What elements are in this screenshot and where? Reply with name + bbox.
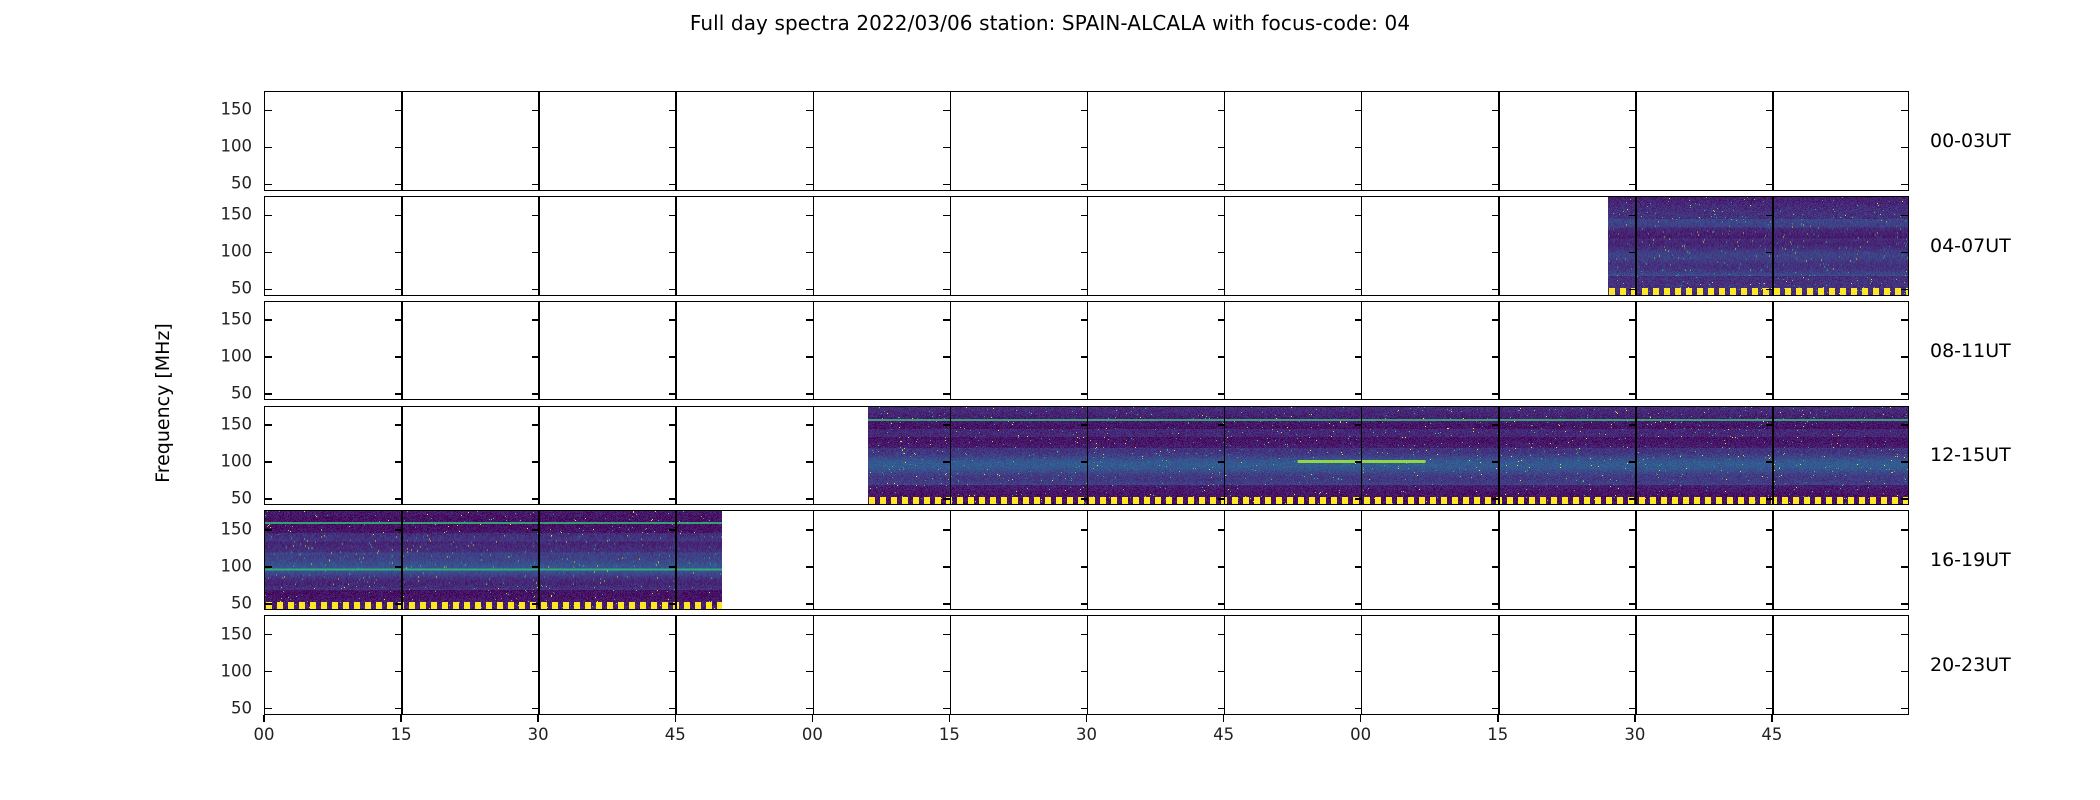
- y-tick-mark: [1355, 319, 1362, 321]
- y-tick-mark: [943, 110, 950, 112]
- x-tick-mark: [949, 715, 951, 722]
- y-tick-mark: [943, 252, 950, 254]
- y-tick-mark: [1766, 498, 1773, 500]
- panel-divider: [675, 302, 677, 400]
- y-tick-mark: [1492, 289, 1499, 291]
- y-tick-mark: [265, 319, 272, 321]
- y-tick-mark: [669, 461, 676, 463]
- y-tick-mark: [1218, 498, 1225, 500]
- y-tick-mark: [532, 393, 539, 395]
- y-tick-label: 150: [221, 310, 253, 329]
- panel-divider: [1087, 511, 1089, 609]
- row-label-16-19ut: 16-19UT: [1930, 549, 2011, 571]
- y-tick-mark: [1355, 634, 1362, 636]
- y-tick-mark: [1766, 566, 1773, 568]
- y-tick-mark: [1218, 393, 1225, 395]
- panel-divider: [401, 616, 403, 714]
- y-tick-mark: [669, 184, 676, 186]
- y-tick-mark: [1355, 356, 1362, 358]
- y-tick-mark: [395, 356, 402, 358]
- y-tick-mark: [669, 566, 676, 568]
- panel-divider: [1772, 92, 1774, 190]
- y-tick-mark: [1081, 252, 1088, 254]
- y-tick-mark: [1355, 110, 1362, 112]
- y-tick-mark: [532, 529, 539, 531]
- y-tick-mark: [1081, 529, 1088, 531]
- y-tick-mark: [669, 356, 676, 358]
- y-tick-mark: [532, 634, 539, 636]
- y-tick-mark: [1629, 252, 1636, 254]
- spectrogram-data-block: [265, 511, 722, 609]
- y-tick-mark: [1081, 461, 1088, 463]
- y-tick-mark: [1629, 603, 1636, 605]
- y-tick-mark: [1766, 319, 1773, 321]
- x-tick-mark: [1771, 715, 1773, 722]
- y-tick-mark: [806, 634, 813, 636]
- panel-divider: [813, 92, 815, 190]
- y-tick-mark: [1218, 634, 1225, 636]
- y-tick-mark: [1081, 498, 1088, 500]
- y-tick-mark: [806, 498, 813, 500]
- y-tick-mark: [1766, 252, 1773, 254]
- y-tick-mark: [1218, 424, 1225, 426]
- y-tick-mark: [1355, 603, 1362, 605]
- y-tick-mark: [943, 184, 950, 186]
- x-tick-mark: [675, 715, 677, 722]
- y-tick-mark: [806, 393, 813, 395]
- y-tick-label: 50: [231, 698, 252, 717]
- y-tick-mark: [1492, 603, 1499, 605]
- y-tick-mark: [943, 393, 950, 395]
- y-tick-mark: [532, 671, 539, 673]
- y-tick-mark: [669, 671, 676, 673]
- panel-divider: [813, 616, 815, 714]
- panel-divider: [1224, 511, 1226, 609]
- y-tick-mark: [532, 708, 539, 710]
- row-label-20-23ut: 20-23UT: [1930, 654, 2011, 676]
- y-tick-mark: [1629, 461, 1636, 463]
- row-label-08-11ut: 08-11UT: [1930, 340, 2011, 362]
- row-label-04-07ut: 04-07UT: [1930, 235, 2011, 257]
- panel-divider: [401, 197, 403, 295]
- y-tick-mark: [669, 424, 676, 426]
- panel-divider: [1087, 92, 1089, 190]
- y-tick-label: 100: [221, 451, 253, 470]
- y-tick-mark: [1492, 147, 1499, 149]
- y-tick-mark: [265, 289, 272, 291]
- y-tick-mark: [1218, 603, 1225, 605]
- y-tick-mark: [395, 184, 402, 186]
- spectrogram-row-00-03ut: [264, 91, 1909, 191]
- y-tick-mark: [1492, 529, 1499, 531]
- y-tick-mark: [1766, 461, 1773, 463]
- y-tick-mark: [1081, 184, 1088, 186]
- y-tick-mark: [1629, 184, 1636, 186]
- y-tick-mark: [1218, 461, 1225, 463]
- y-tick-mark: [1901, 461, 1908, 463]
- y-tick-mark: [806, 424, 813, 426]
- y-tick-mark: [1492, 252, 1499, 254]
- y-tick-label: 100: [221, 242, 253, 261]
- panel-divider: [1087, 616, 1089, 714]
- y-tick-mark: [1218, 110, 1225, 112]
- y-tick-mark: [532, 603, 539, 605]
- y-tick-mark: [532, 215, 539, 217]
- y-tick-mark: [943, 634, 950, 636]
- y-tick-mark: [943, 289, 950, 291]
- y-tick-mark: [1901, 566, 1908, 568]
- panel-divider: [1087, 407, 1089, 505]
- y-tick-mark: [265, 498, 272, 500]
- panel-divider: [1772, 511, 1774, 609]
- y-tick-mark: [1629, 319, 1636, 321]
- panel-divider: [950, 197, 952, 295]
- y-tick-mark: [395, 393, 402, 395]
- y-tick-mark: [265, 671, 272, 673]
- y-tick-mark: [1081, 319, 1088, 321]
- panel-divider: [1498, 407, 1500, 505]
- y-tick-mark: [669, 110, 676, 112]
- y-tick-label: 150: [221, 100, 253, 119]
- y-tick-mark: [532, 110, 539, 112]
- y-tick-mark: [943, 498, 950, 500]
- y-tick-mark: [806, 147, 813, 149]
- x-axis: 001530450015304500153045: [264, 715, 1909, 775]
- y-tick-mark: [806, 252, 813, 254]
- spectrogram-data-block: [1608, 197, 1909, 295]
- y-tick-mark: [1081, 289, 1088, 291]
- y-tick-mark: [669, 498, 676, 500]
- y-tick-mark: [1492, 184, 1499, 186]
- panel-divider: [1635, 302, 1637, 400]
- y-tick-mark: [1901, 289, 1908, 291]
- y-tick-label: 150: [221, 519, 253, 538]
- panel-divider: [1635, 511, 1637, 609]
- y-tick-mark: [1766, 356, 1773, 358]
- y-tick-mark: [1766, 147, 1773, 149]
- y-tick-mark: [806, 603, 813, 605]
- y-tick-mark: [669, 147, 676, 149]
- y-tick-mark: [1355, 184, 1362, 186]
- y-tick-mark: [395, 147, 402, 149]
- y-tick-mark: [1901, 634, 1908, 636]
- x-tick-label: 15: [391, 725, 412, 744]
- y-tick-mark: [1492, 393, 1499, 395]
- spectrogram-data-block: [868, 407, 1909, 505]
- y-tick-mark: [1901, 393, 1908, 395]
- y-tick-label: 50: [231, 174, 252, 193]
- y-tick-mark: [1218, 708, 1225, 710]
- y-tick-mark: [669, 215, 676, 217]
- panel-divider: [1361, 407, 1363, 505]
- panel-divider: [950, 616, 952, 714]
- y-tick-mark: [265, 252, 272, 254]
- y-tick-mark: [395, 461, 402, 463]
- panel-divider: [1224, 616, 1226, 714]
- y-tick-label: 150: [221, 624, 253, 643]
- y-tick-label: 100: [221, 347, 253, 366]
- y-tick-mark: [1629, 147, 1636, 149]
- y-tick-mark: [1081, 566, 1088, 568]
- y-tick-mark: [1081, 424, 1088, 426]
- y-tick-mark: [1218, 529, 1225, 531]
- y-tick-mark: [1629, 566, 1636, 568]
- y-tick-mark: [1081, 603, 1088, 605]
- y-tick-mark: [1355, 566, 1362, 568]
- y-tick-mark: [669, 252, 676, 254]
- y-tick-mark: [1355, 215, 1362, 217]
- y-tick-mark: [265, 603, 272, 605]
- y-tick-mark: [395, 319, 402, 321]
- y-tick-mark: [265, 215, 272, 217]
- y-tick-mark: [943, 461, 950, 463]
- panel-divider: [538, 197, 540, 295]
- panel-divider: [950, 92, 952, 190]
- y-tick-mark: [1901, 356, 1908, 358]
- y-tick-mark: [669, 634, 676, 636]
- x-tick-mark: [1360, 715, 1362, 722]
- y-tick-mark: [1218, 215, 1225, 217]
- y-tick-mark: [1081, 393, 1088, 395]
- y-tick-mark: [1355, 424, 1362, 426]
- y-tick-mark: [532, 356, 539, 358]
- y-tick-mark: [1355, 708, 1362, 710]
- y-tick-mark: [1355, 147, 1362, 149]
- y-tick-mark: [943, 708, 950, 710]
- y-tick-mark: [669, 603, 676, 605]
- panel-divider: [1361, 92, 1363, 190]
- panel-divider: [1224, 407, 1226, 505]
- panel-divider: [1498, 92, 1500, 190]
- spectrogram-row-08-11ut: [264, 301, 1909, 401]
- y-tick-mark: [669, 708, 676, 710]
- x-tick-mark: [537, 715, 539, 722]
- y-tick-mark: [1629, 529, 1636, 531]
- panel-divider: [1361, 302, 1363, 400]
- y-tick-mark: [669, 289, 676, 291]
- y-tick-mark: [1901, 147, 1908, 149]
- y-tick-mark: [1629, 356, 1636, 358]
- y-tick-mark: [1355, 529, 1362, 531]
- y-tick-mark: [806, 461, 813, 463]
- panel-divider: [1772, 302, 1774, 400]
- x-tick-label: 30: [528, 725, 549, 744]
- y-tick-label: 100: [221, 556, 253, 575]
- y-tick-mark: [265, 566, 272, 568]
- panel-divider: [401, 511, 403, 609]
- y-tick-mark: [1492, 319, 1499, 321]
- y-tick-mark: [1901, 498, 1908, 500]
- y-tick-mark: [395, 110, 402, 112]
- y-tick-mark: [265, 461, 272, 463]
- x-tick-label: 45: [1761, 725, 1782, 744]
- panel-divider: [675, 197, 677, 295]
- y-tick-mark: [1901, 708, 1908, 710]
- y-tick-mark: [1492, 110, 1499, 112]
- panel-divider: [675, 407, 677, 505]
- panel-divider: [538, 302, 540, 400]
- y-tick-mark: [1766, 671, 1773, 673]
- y-tick-mark: [943, 319, 950, 321]
- y-tick-mark: [1901, 252, 1908, 254]
- y-tick-label: 150: [221, 414, 253, 433]
- spectrogram-image: [265, 511, 722, 609]
- panel-divider: [675, 511, 677, 609]
- y-tick-mark: [395, 289, 402, 291]
- panel-divider: [401, 92, 403, 190]
- panel-divider: [1772, 197, 1774, 295]
- y-tick-mark: [395, 634, 402, 636]
- y-tick-mark: [1355, 393, 1362, 395]
- y-tick-mark: [265, 393, 272, 395]
- figure-canvas: Full day spectra 2022/03/06 station: SPA…: [0, 0, 2100, 800]
- x-tick-mark: [1634, 715, 1636, 722]
- y-tick-mark: [1901, 603, 1908, 605]
- x-tick-label: 00: [802, 725, 823, 744]
- spectrogram-image: [868, 407, 1909, 505]
- y-tick-mark: [1901, 529, 1908, 531]
- y-tick-mark: [1629, 289, 1636, 291]
- y-tick-mark: [1355, 252, 1362, 254]
- y-tick-mark: [265, 184, 272, 186]
- y-tick-mark: [1629, 498, 1636, 500]
- panel-divider: [813, 511, 815, 609]
- panel-divider: [401, 302, 403, 400]
- y-tick-mark: [1081, 356, 1088, 358]
- y-tick-mark: [1766, 529, 1773, 531]
- y-tick-mark: [265, 147, 272, 149]
- panel-divider: [1224, 197, 1226, 295]
- y-tick-mark: [395, 671, 402, 673]
- y-tick-mark: [1081, 147, 1088, 149]
- y-tick-mark: [1355, 498, 1362, 500]
- y-tick-mark: [1492, 424, 1499, 426]
- y-tick-mark: [1629, 671, 1636, 673]
- y-tick-mark: [395, 498, 402, 500]
- y-tick-mark: [1901, 319, 1908, 321]
- y-tick-mark: [806, 184, 813, 186]
- y-tick-mark: [395, 603, 402, 605]
- y-tick-mark: [806, 289, 813, 291]
- x-tick-mark: [1086, 715, 1088, 722]
- y-tick-mark: [265, 110, 272, 112]
- y-tick-mark: [1218, 184, 1225, 186]
- y-tick-label: 150: [221, 205, 253, 224]
- panel-divider: [1224, 302, 1226, 400]
- panel-divider: [1224, 92, 1226, 190]
- panel-divider: [1498, 616, 1500, 714]
- y-tick-mark: [1766, 393, 1773, 395]
- y-tick-mark: [1629, 708, 1636, 710]
- spectrogram-row-20-23ut: [264, 615, 1909, 715]
- y-tick-mark: [1218, 289, 1225, 291]
- panel-divider: [538, 616, 540, 714]
- y-tick-mark: [1492, 634, 1499, 636]
- y-tick-mark: [265, 356, 272, 358]
- panel-divider: [1087, 302, 1089, 400]
- y-tick-mark: [1629, 424, 1636, 426]
- y-tick-mark: [1218, 147, 1225, 149]
- panel-divider: [401, 407, 403, 505]
- x-tick-label: 30: [1624, 725, 1645, 744]
- y-tick-mark: [395, 252, 402, 254]
- spectrogram-row-04-07ut: [264, 196, 1909, 296]
- y-tick-mark: [943, 529, 950, 531]
- y-tick-mark: [1766, 215, 1773, 217]
- y-tick-mark: [1901, 671, 1908, 673]
- y-tick-mark: [395, 215, 402, 217]
- y-tick-mark: [265, 634, 272, 636]
- panel-divider: [1361, 197, 1363, 295]
- y-tick-mark: [265, 529, 272, 531]
- y-tick-mark: [806, 566, 813, 568]
- panel-divider: [950, 302, 952, 400]
- y-tick-mark: [1492, 356, 1499, 358]
- y-tick-mark: [669, 393, 676, 395]
- figure-title: Full day spectra 2022/03/06 station: SPA…: [0, 11, 2100, 35]
- y-tick-mark: [1081, 671, 1088, 673]
- y-tick-mark: [1081, 110, 1088, 112]
- y-tick-mark: [1901, 215, 1908, 217]
- y-tick-mark: [395, 529, 402, 531]
- y-tick-mark: [532, 498, 539, 500]
- panel-divider: [1635, 197, 1637, 295]
- x-tick-mark: [400, 715, 402, 722]
- y-tick-mark: [943, 356, 950, 358]
- panel-divider: [813, 407, 815, 505]
- y-tick-mark: [532, 566, 539, 568]
- x-tick-label: 45: [1213, 725, 1234, 744]
- y-tick-mark: [1492, 671, 1499, 673]
- y-tick-mark: [806, 215, 813, 217]
- panel-divider: [1361, 511, 1363, 609]
- y-tick-mark: [532, 319, 539, 321]
- y-tick-mark: [1218, 356, 1225, 358]
- y-tick-mark: [395, 566, 402, 568]
- y-tick-mark: [265, 424, 272, 426]
- y-tick-mark: [943, 603, 950, 605]
- x-tick-mark: [1223, 715, 1225, 722]
- y-tick-label: 100: [221, 137, 253, 156]
- panel-divider: [1498, 197, 1500, 295]
- y-tick-mark: [1629, 634, 1636, 636]
- y-tick-mark: [1629, 215, 1636, 217]
- y-tick-mark: [532, 289, 539, 291]
- y-tick-label: 50: [231, 593, 252, 612]
- y-tick-mark: [943, 566, 950, 568]
- y-tick-mark: [669, 529, 676, 531]
- y-tick-mark: [943, 424, 950, 426]
- y-tick-mark: [1766, 634, 1773, 636]
- panel-divider: [1087, 197, 1089, 295]
- y-tick-mark: [1218, 671, 1225, 673]
- y-tick-mark: [1218, 252, 1225, 254]
- y-tick-label: 50: [231, 488, 252, 507]
- y-tick-mark: [669, 319, 676, 321]
- y-tick-mark: [1901, 184, 1908, 186]
- y-tick-mark: [1766, 603, 1773, 605]
- panel-divider: [1772, 616, 1774, 714]
- panel-divider: [1635, 92, 1637, 190]
- x-tick-mark: [812, 715, 814, 722]
- panel-divider: [950, 407, 952, 505]
- y-tick-mark: [1492, 498, 1499, 500]
- panel-divider: [538, 92, 540, 190]
- y-tick-mark: [1081, 708, 1088, 710]
- y-tick-mark: [395, 424, 402, 426]
- y-tick-mark: [806, 110, 813, 112]
- y-tick-mark: [1081, 634, 1088, 636]
